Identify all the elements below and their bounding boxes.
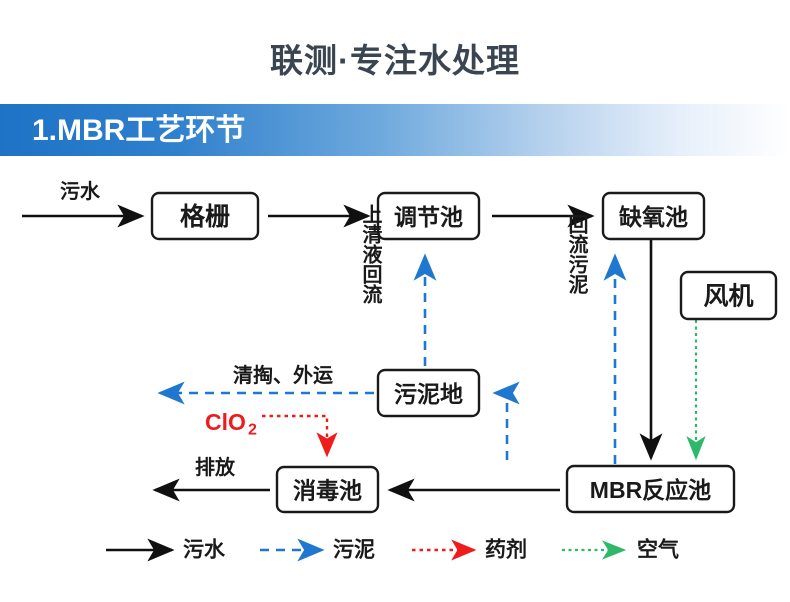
node-sludge-bed-label: 污泥地 [394, 381, 463, 407]
node-regulating-tank[interactable]: 调节池 [378, 193, 479, 239]
edge-label-discharge: 排放 [195, 455, 236, 479]
node-grid[interactable]: 格栅 [152, 193, 258, 239]
section-header-label: 1.MBR工艺环节 [32, 112, 245, 150]
edge-mbr-to-sludgebed [495, 393, 507, 460]
node-anoxic-tank-label: 缺氧池 [619, 204, 688, 230]
node-blower[interactable]: 风机 [681, 272, 776, 319]
node-mbr-reactor[interactable]: MBR反应池 [567, 466, 734, 512]
legend-item-water: 污水 [106, 539, 226, 562]
node-mbr-reactor-label: MBR反应池 [590, 477, 711, 503]
legend-item-chemical: 药剂 [412, 538, 527, 562]
legend-item-sludge: 污泥 [260, 539, 375, 562]
node-disinfection-tank[interactable]: 消毒池 [277, 467, 378, 512]
legend-label-water: 污水 [183, 539, 226, 562]
legend-label-sludge: 污泥 [333, 539, 375, 562]
node-blower-label: 风机 [703, 283, 753, 311]
edge-label-supernatant-return: 上清液回流 [359, 204, 382, 305]
edge-label-influent: 污水 [60, 180, 101, 203]
legend: 污水 污泥 药剂 空气 [106, 538, 679, 562]
page-root: 联测·专注水处理 1.MBR工艺环节 [0, 0, 790, 602]
node-anoxic-tank[interactable]: 缺氧池 [603, 193, 704, 239]
legend-label-chemical: 药剂 [485, 538, 527, 562]
edge-label-dredge-transport: 清掏、外运 [233, 363, 333, 387]
edge-label-return-sludge: 回流污泥 [565, 214, 588, 295]
node-disinfection-tank-label: 消毒池 [293, 478, 362, 504]
edge-clo2-to-disinfect [262, 416, 327, 455]
edge-label-chlorine-dioxide: ClO 2 [205, 409, 257, 439]
node-sludge-bed[interactable]: 污泥地 [378, 370, 479, 416]
legend-label-air: 空气 [637, 538, 679, 562]
page-title: 联测·专注水处理 [0, 38, 790, 84]
process-flow-diagram: 格栅 调节池 缺氧池 风机 污泥地 消毒池 [0, 160, 790, 602]
chem-label-main: ClO [205, 409, 246, 435]
node-grid-label: 格栅 [180, 202, 230, 231]
node-regulating-tank-label: 调节池 [394, 204, 463, 230]
chem-label-subscript: 2 [248, 422, 257, 439]
legend-item-air: 空气 [562, 538, 679, 562]
